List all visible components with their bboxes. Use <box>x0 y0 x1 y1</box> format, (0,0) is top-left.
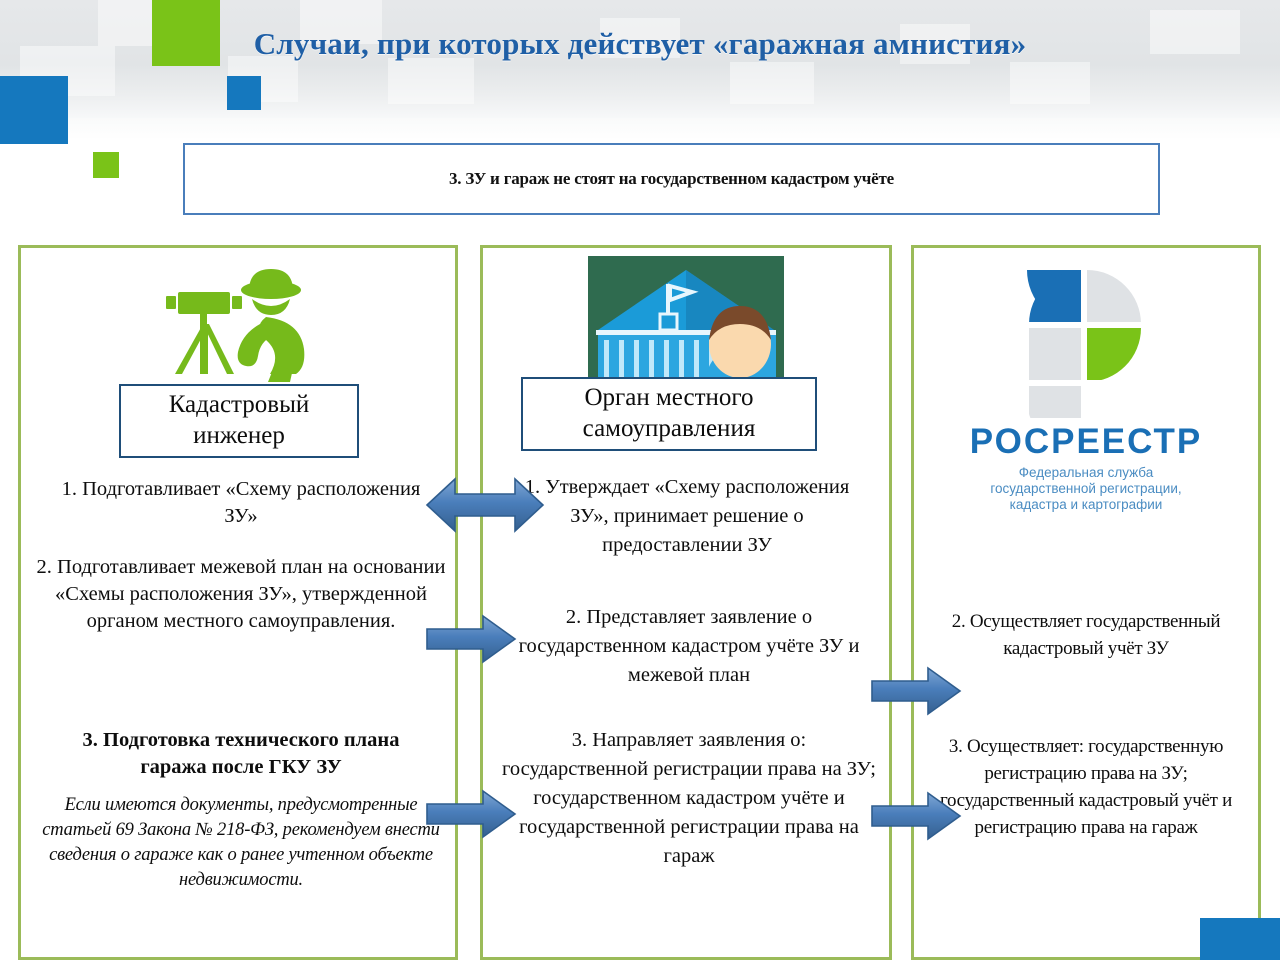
list-item: 2. Представляет заявление о государствен… <box>497 603 881 690</box>
arrow-government-to-rosreestr-step2 <box>870 665 962 722</box>
decor-tile-5 <box>388 58 474 104</box>
page-title: Случаи, при которых действует «гаражная … <box>0 26 1280 62</box>
arrow-engineer-to-government-step3 <box>425 788 517 845</box>
rosreestr-logo-icon <box>1015 266 1157 418</box>
list-item-text: 2. Осуществляет государственный кадастро… <box>952 611 1220 659</box>
list-item-text: 3. Осуществляет: государственную регистр… <box>940 736 1232 838</box>
case-heading-text: 3. ЗУ и гараж не стоят на государственно… <box>449 169 894 189</box>
rosreestr-wordmark: РОСРЕЕСТР <box>914 422 1258 462</box>
slide-canvas: Случаи, при которых действует «гаражная … <box>0 0 1280 960</box>
role-label-line-1: Орган местного самоуправления <box>529 382 809 444</box>
list-item: 2. Осуществляет государственный кадастро… <box>922 608 1250 662</box>
decor-tile-7 <box>730 62 814 104</box>
rosreestr-subtitle-line-3: кадастра и картографии <box>914 497 1258 513</box>
decor-square-blue-small <box>227 76 261 110</box>
surveyor-theodolite-icon-wrap <box>21 262 455 382</box>
list-item-text: 3. Подготовка технического плана гаража … <box>83 729 400 778</box>
list-item-text: Если имеются документы, предусмотренные … <box>42 795 439 890</box>
list-item: 3. Осуществляет: государственную регистр… <box>918 733 1254 841</box>
rosreestr-subtitle-line-1: Федеральная служба <box>914 465 1258 481</box>
decor-square-blue-bottom-right <box>1200 918 1280 960</box>
list-item-text: 1. Подготавливает «Схему расположения ЗУ… <box>62 478 421 527</box>
decor-square-blue-large <box>0 76 68 144</box>
list-item-text: 1. Утверждает «Схему расположения ЗУ», п… <box>525 476 850 556</box>
list-item-text: 2. Подготавливает межевой план на основа… <box>37 556 446 632</box>
rosreestr-subtitle: Федеральная служба государственной регис… <box>914 465 1258 513</box>
rosreestr-subtitle-line-2: государственной регистрации, <box>914 481 1258 497</box>
decor-tile-9 <box>1010 62 1090 104</box>
government-building-icon-wrap <box>483 256 889 384</box>
list-item: 1. Подготавливает «Схему расположения ЗУ… <box>57 476 425 530</box>
role-label-local-government: Орган местного самоуправления <box>521 377 817 451</box>
column-cadastral-engineer: Кадастровый инженер 1. Подготавливает «С… <box>18 245 458 960</box>
column-local-government: Орган местного самоуправления 1. Утвержд… <box>480 245 892 960</box>
role-label-cadastral-engineer: Кадастровый инженер <box>119 384 359 458</box>
header-gradient-band-lower <box>0 118 1280 140</box>
decor-square-green-small <box>93 152 119 178</box>
list-item-text: 2. Представляет заявление о государствен… <box>519 606 860 686</box>
arrow-engineer-to-government-step2 <box>425 613 517 670</box>
government-building-icon <box>588 256 784 384</box>
list-item: 3. Направляет заявления о: государственн… <box>497 726 881 871</box>
role-label-line-1: Кадастровый инженер <box>127 389 351 451</box>
list-item: Если имеются документы, предусмотренные … <box>31 793 451 893</box>
arrow-engineer-to-government-bidirectional <box>425 473 545 542</box>
surveyor-theodolite-icon <box>148 262 328 382</box>
case-heading-box: 3. ЗУ и гараж не стоят на государственно… <box>183 143 1160 215</box>
list-item: 3. Подготовка технического плана гаража … <box>47 727 435 781</box>
list-item: 1. Утверждает «Схему расположения ЗУ», п… <box>511 473 863 560</box>
list-item: 2. Подготавливает межевой план на основа… <box>35 554 447 635</box>
rosreestr-logo-icon-wrap: РОСРЕЕСТР Федеральная служба государстве… <box>914 266 1258 513</box>
arrow-government-to-rosreestr-step3 <box>870 790 962 847</box>
column-rosreestr: РОСРЕЕСТР Федеральная служба государстве… <box>911 245 1261 960</box>
list-item-text: 3. Направляет заявления о: государственн… <box>502 729 876 867</box>
